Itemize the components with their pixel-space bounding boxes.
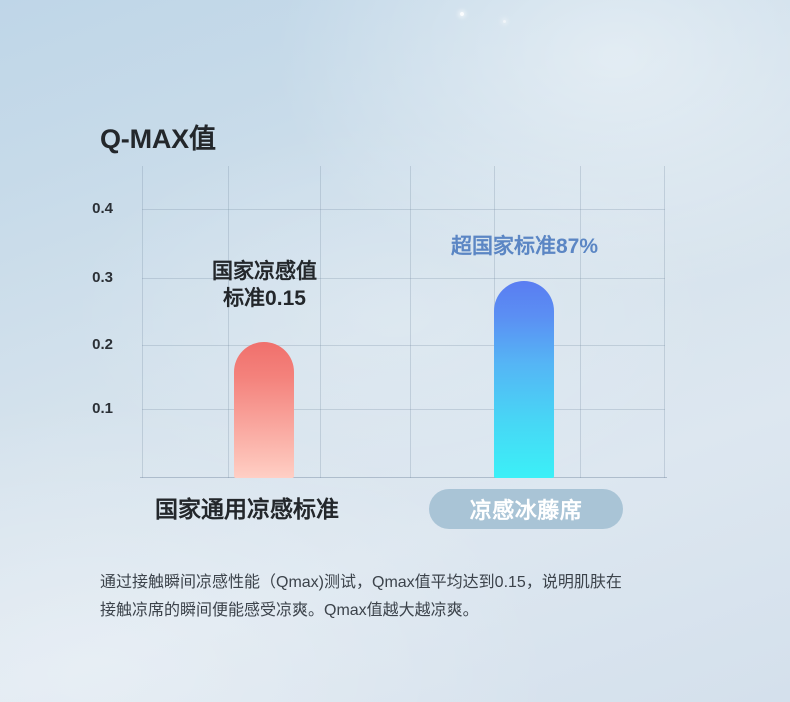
callout-exceeds-standard: 超国家标准87% <box>427 234 622 260</box>
gridline-y-0.4 <box>142 209 665 210</box>
callout-national-standard-line2: 标准0.15 <box>172 286 357 312</box>
decorative-arc-outer <box>0 0 389 60</box>
gridline-y-0.1 <box>142 409 665 410</box>
gridline-x-0 <box>142 166 143 478</box>
footnote-text: 通过接触瞬间凉感性能（Qmax)测试，Qmax值平均达到0.15，说明肌肤在 接… <box>100 569 700 625</box>
category-label-national: 国家通用凉感标准 <box>155 490 339 524</box>
chart-plot-area: 0.4 0.3 0.2 0.1 国家凉感值 标准0.15 超国家标准87% <box>142 166 665 478</box>
decorative-arc-inner <box>0 0 305 66</box>
callout-national-standard-line1: 国家凉感值 <box>172 259 357 285</box>
bar-national-standard <box>234 342 294 478</box>
category-pill-label: 凉感冰藤席 <box>470 493 583 525</box>
gridline-x-6 <box>664 166 665 478</box>
gridline-x-5 <box>580 166 581 478</box>
gridline-x-1 <box>228 166 229 478</box>
category-pill-cooling-ice-mat: 凉感冰藤席 <box>429 489 623 529</box>
y-axis-tick-3: 0.1 <box>92 400 113 417</box>
page-title: Q-MAX值 <box>100 117 216 156</box>
decorative-arc-middle <box>0 0 352 63</box>
footnote-line-2: 接触凉席的瞬间便能感受凉爽。Qmax值越大越凉爽。 <box>100 597 700 625</box>
gridline-y-0.2 <box>142 345 665 346</box>
y-axis-tick-1: 0.3 <box>92 269 113 286</box>
callout-national-standard: 国家凉感值 标准0.15 <box>172 259 357 312</box>
qmax-infographic-page: Q-MAX值 0.4 0.3 0.2 0.1 国家凉感值 标准0.15 超国家标… <box>0 0 790 702</box>
sparkle-dot-icon <box>460 12 464 16</box>
gridline-x-2 <box>320 166 321 478</box>
category-label-row: 国家通用凉感标准 凉感冰藤席 <box>0 489 790 533</box>
y-axis-tick-2: 0.2 <box>92 336 113 353</box>
bar-cooling-ice-mat <box>494 281 554 478</box>
footnote-line-1: 通过接触瞬间凉感性能（Qmax)测试，Qmax值平均达到0.15，说明肌肤在 <box>100 569 700 597</box>
y-axis-tick-0: 0.4 <box>92 200 113 217</box>
gridline-x-3 <box>410 166 411 478</box>
sparkle-dot-secondary-icon <box>503 20 506 23</box>
x-axis-baseline <box>140 477 667 478</box>
